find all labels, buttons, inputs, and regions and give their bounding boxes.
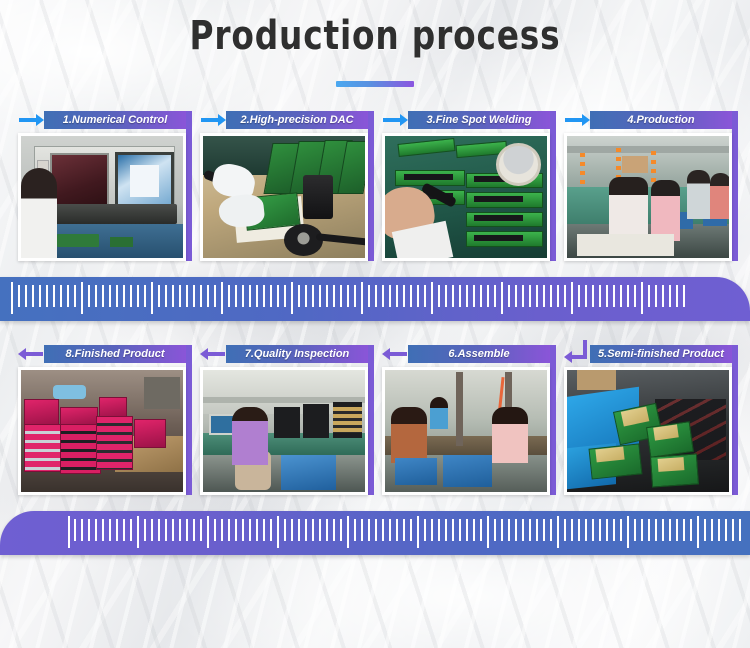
- ruler-tick: [564, 519, 566, 541]
- step-2-head: 2.High-precision DAC: [200, 111, 368, 129]
- ruler-tick: [550, 285, 552, 307]
- ruler-tick: [298, 285, 300, 307]
- ruler-tick: [130, 519, 132, 541]
- step-3-label: 3.Fine Spot Welding: [408, 111, 550, 129]
- ruler-tick: [235, 285, 237, 307]
- ruler-tick: [445, 285, 447, 307]
- ruler-tick: [634, 519, 636, 541]
- ruler-tick: [410, 519, 412, 541]
- ruler-tick: [634, 285, 636, 307]
- ruler-tick: [480, 519, 482, 541]
- ruler-tick: [375, 519, 377, 541]
- ruler-tick: [60, 285, 62, 307]
- ruler-tick: [186, 285, 188, 307]
- ruler-tick: [305, 519, 307, 541]
- ruler-tick: [438, 519, 440, 541]
- ruler-tick: [368, 519, 370, 541]
- ruler-tick: [165, 519, 167, 541]
- ruler-tick: [459, 519, 461, 541]
- ruler-tick: [144, 519, 146, 541]
- step-2-label: 2.High-precision DAC: [226, 111, 368, 129]
- step-card-1[interactable]: 1.Numerical Control: [18, 111, 186, 261]
- ruler-tick: [690, 519, 692, 541]
- page-content: Production process 1.Numerical Control: [0, 0, 750, 557]
- ruler-tick: [536, 285, 538, 307]
- ruler-tick: [242, 519, 244, 541]
- ruler-tick: [557, 516, 559, 548]
- assemble-photo: [385, 370, 547, 492]
- ruler-tick: [277, 285, 279, 307]
- ruler-tick: [242, 285, 244, 307]
- ruler-tick: [249, 285, 251, 307]
- ruler-tick: [403, 285, 405, 307]
- ruler-tick: [333, 519, 335, 541]
- step-4-head: 4.Production: [564, 111, 732, 129]
- ruler-tick: [123, 285, 125, 307]
- ruler-tick: [431, 519, 433, 541]
- ruler-tick: [284, 285, 286, 307]
- ruler-tick: [207, 285, 209, 307]
- ruler-tick: [396, 285, 398, 307]
- step-8-label: 8.Finished Product: [44, 345, 186, 363]
- ruler-tick: [68, 516, 70, 548]
- ruler-tick: [452, 519, 454, 541]
- ruler-tick: [221, 519, 223, 541]
- ruler-tick: [95, 285, 97, 307]
- ruler-tick: [704, 519, 706, 541]
- ruler-tick: [354, 285, 356, 307]
- ruler-tick: [270, 519, 272, 541]
- ruler-tick: [375, 285, 377, 307]
- ruler-tick: [557, 285, 559, 307]
- ruler-tick: [620, 519, 622, 541]
- production-photo: [567, 136, 729, 258]
- ruler-tick: [683, 519, 685, 541]
- ruler-tick: [200, 519, 202, 541]
- ruler-tick: [578, 519, 580, 541]
- ruler-tick: [235, 519, 237, 541]
- ruler-tick: [340, 519, 342, 541]
- ruler-tick: [228, 285, 230, 307]
- ruler-tick: [151, 282, 153, 314]
- ruler-tick: [382, 519, 384, 541]
- ruler-tick: [431, 282, 433, 314]
- ruler-tick: [494, 285, 496, 307]
- ruler-tick: [592, 519, 594, 541]
- arrow-right-icon: [564, 114, 590, 126]
- step-5-head: 5.Semi-finished Product: [564, 345, 732, 363]
- ruler-tick: [333, 285, 335, 307]
- bottom-row: 8.Finished Product: [0, 345, 750, 495]
- ruler-tick: [312, 519, 314, 541]
- step-1-photo-frame: [18, 133, 186, 261]
- ruler-tick: [340, 285, 342, 307]
- ruler-tick: [466, 285, 468, 307]
- ruler-tick: [718, 519, 720, 541]
- arrow-right-icon: [382, 114, 408, 126]
- ruler-tick: [732, 519, 734, 541]
- arrow-elbow-down-left-icon: [564, 344, 590, 364]
- step-7-head: 7.Quality Inspection: [200, 345, 368, 363]
- step-7-label: 7.Quality Inspection: [226, 345, 368, 363]
- ruler-tick: [179, 519, 181, 541]
- ruler-tick: [25, 285, 27, 307]
- ruler-tick: [39, 285, 41, 307]
- top-row: 1.Numerical Control 2.High-precision DAC: [0, 111, 750, 261]
- ruler-tick: [494, 519, 496, 541]
- ruler-tick: [480, 285, 482, 307]
- ruler-tick: [305, 285, 307, 307]
- ruler-tick: [599, 285, 601, 307]
- ruler-tick: [81, 519, 83, 541]
- ruler-tick: [214, 519, 216, 541]
- ruler-tick: [445, 519, 447, 541]
- ruler-tick: [522, 519, 524, 541]
- ruler-tick: [179, 285, 181, 307]
- step-card-6[interactable]: 6.Assemble: [382, 345, 550, 495]
- arrow-left-icon: [200, 348, 226, 360]
- ruler-tick: [291, 519, 293, 541]
- step-3-head: 3.Fine Spot Welding: [382, 111, 550, 129]
- ruler-tick: [529, 285, 531, 307]
- ruler-tick: [508, 285, 510, 307]
- ruler-tick: [88, 285, 90, 307]
- ruler-tick: [676, 519, 678, 541]
- arrow-right-icon: [18, 114, 44, 126]
- page-header: Production process: [0, 0, 750, 87]
- ruler-tick: [109, 285, 111, 307]
- numerical-control-photo: [21, 136, 183, 258]
- ruler-tick: [298, 519, 300, 541]
- ruler-tick: [347, 516, 349, 548]
- ruler-tick: [592, 285, 594, 307]
- ruler-tick: [361, 519, 363, 541]
- ruler-tick: [641, 282, 643, 314]
- ruler-tick: [585, 519, 587, 541]
- ruler-tick: [662, 519, 664, 541]
- step-6-label: 6.Assemble: [408, 345, 550, 363]
- ruler-tick: [522, 285, 524, 307]
- ruler-tick: [536, 519, 538, 541]
- step-card-4[interactable]: 4.Production: [564, 111, 732, 261]
- ruler-tick: [74, 285, 76, 307]
- arrow-left-icon: [18, 348, 44, 360]
- ruler-tick: [249, 519, 251, 541]
- ruler-tick: [53, 285, 55, 307]
- ruler-top-wrap: [0, 277, 750, 323]
- ruler-tick: [564, 285, 566, 307]
- step-card-5[interactable]: 5.Semi-finished Product: [564, 345, 732, 495]
- ruler-tick: [277, 516, 279, 548]
- ruler-tick: [648, 285, 650, 307]
- ruler-tick: [655, 285, 657, 307]
- ruler-tick: [319, 285, 321, 307]
- ruler-tick: [81, 282, 83, 314]
- ruler-tick: [11, 282, 13, 314]
- ruler-tick: [347, 285, 349, 307]
- step-4-photo-frame: [564, 133, 732, 261]
- ruler-tick: [144, 285, 146, 307]
- ruler-tick: [263, 285, 265, 307]
- ruler-bottom-wrap: [0, 511, 750, 557]
- ruler-tick: [165, 285, 167, 307]
- ruler-tick: [620, 285, 622, 307]
- ruler-tick: [270, 285, 272, 307]
- ruler-tick: [137, 285, 139, 307]
- ruler-tick: [102, 285, 104, 307]
- ruler-tick: [200, 285, 202, 307]
- ruler-tick: [389, 285, 391, 307]
- ruler-tick: [550, 519, 552, 541]
- ruler-tick: [452, 285, 454, 307]
- step-card-7[interactable]: 7.Quality Inspection: [200, 345, 368, 495]
- page-title: Production process: [68, 16, 683, 56]
- step-5-photo-frame: [564, 367, 732, 495]
- ruler-tick: [256, 285, 258, 307]
- ruler-tick: [319, 519, 321, 541]
- ruler-tick: [32, 285, 34, 307]
- step-6-head: 6.Assemble: [382, 345, 550, 363]
- ruler-tick: [515, 285, 517, 307]
- ruler-tick: [326, 519, 328, 541]
- ruler-tick: [669, 285, 671, 307]
- ruler-tick: [648, 519, 650, 541]
- ruler-tick: [207, 516, 209, 548]
- step-6-photo-frame: [382, 367, 550, 495]
- ruler-tick: [501, 282, 503, 314]
- ruler-tick: [95, 519, 97, 541]
- ruler-tick: [669, 519, 671, 541]
- ruler-bottom: [0, 511, 750, 555]
- ruler-tick: [529, 519, 531, 541]
- title-underline: [336, 81, 414, 87]
- ruler-tick: [46, 285, 48, 307]
- ruler-tick: [193, 285, 195, 307]
- ruler-tick: [312, 285, 314, 307]
- ruler-tick: [606, 285, 608, 307]
- ruler-top-ticks: [0, 277, 750, 321]
- finished-product-photo: [21, 370, 183, 492]
- ruler-tick: [396, 519, 398, 541]
- ruler-tick: [123, 519, 125, 541]
- ruler-tick: [613, 519, 615, 541]
- ruler-tick: [487, 285, 489, 307]
- ruler-tick: [172, 519, 174, 541]
- ruler-tick: [508, 519, 510, 541]
- ruler-tick: [158, 285, 160, 307]
- step-8-photo-frame: [18, 367, 186, 495]
- ruler-tick: [74, 519, 76, 541]
- ruler-tick: [291, 282, 293, 314]
- ruler-tick: [501, 519, 503, 541]
- ruler-tick: [515, 519, 517, 541]
- arrow-left-icon: [382, 348, 408, 360]
- ruler-tick: [627, 516, 629, 548]
- semi-finished-product-photo: [567, 370, 729, 492]
- ruler-tick: [116, 285, 118, 307]
- ruler-tick: [571, 282, 573, 314]
- ruler-tick: [389, 519, 391, 541]
- fine-spot-welding-photo: [385, 136, 547, 258]
- ruler-tick: [627, 285, 629, 307]
- ruler-tick: [18, 285, 20, 307]
- ruler-tick: [606, 519, 608, 541]
- ruler-tick: [102, 519, 104, 541]
- ruler-tick: [438, 285, 440, 307]
- step-8-head: 8.Finished Product: [18, 345, 186, 363]
- ruler-tick: [424, 519, 426, 541]
- ruler-tick: [599, 519, 601, 541]
- ruler-tick: [571, 519, 573, 541]
- step-3-photo-frame: [382, 133, 550, 261]
- quality-inspection-photo: [203, 370, 365, 492]
- ruler-tick: [109, 519, 111, 541]
- step-5-label: 5.Semi-finished Product: [590, 345, 732, 363]
- ruler-tick: [284, 519, 286, 541]
- ruler-tick: [473, 519, 475, 541]
- ruler-tick: [137, 516, 139, 548]
- ruler-tick: [424, 285, 426, 307]
- ruler-tick: [151, 519, 153, 541]
- ruler-tick: [543, 285, 545, 307]
- high-precision-dac-photo: [203, 136, 365, 258]
- ruler-tick: [585, 285, 587, 307]
- step-1-head: 1.Numerical Control: [18, 111, 186, 129]
- ruler-tick: [459, 285, 461, 307]
- ruler-tick: [697, 516, 699, 548]
- ruler-tick: [683, 285, 685, 307]
- step-card-2[interactable]: 2.High-precision DAC: [200, 111, 368, 261]
- ruler-tick: [326, 285, 328, 307]
- ruler-tick: [186, 519, 188, 541]
- ruler-tick: [739, 519, 741, 541]
- step-4-label: 4.Production: [590, 111, 732, 129]
- ruler-tick: [641, 519, 643, 541]
- ruler-tick: [67, 285, 69, 307]
- ruler-tick: [172, 285, 174, 307]
- step-card-8[interactable]: 8.Finished Product: [18, 345, 186, 495]
- ruler-tick: [368, 285, 370, 307]
- ruler-tick: [410, 285, 412, 307]
- ruler-tick: [676, 285, 678, 307]
- ruler-tick: [158, 519, 160, 541]
- ruler-tick: [578, 285, 580, 307]
- ruler-tick: [613, 285, 615, 307]
- step-7-photo-frame: [200, 367, 368, 495]
- step-2-photo-frame: [200, 133, 368, 261]
- step-1-label: 1.Numerical Control: [44, 111, 186, 129]
- ruler-tick: [116, 519, 118, 541]
- arrow-right-icon: [200, 114, 226, 126]
- ruler-tick: [466, 519, 468, 541]
- ruler-tick: [655, 519, 657, 541]
- ruler-tick: [214, 285, 216, 307]
- ruler-tick: [487, 516, 489, 548]
- ruler-tick: [725, 519, 727, 541]
- ruler-tick: [263, 519, 265, 541]
- ruler-tick: [130, 285, 132, 307]
- step-card-3[interactable]: 3.Fine Spot Welding: [382, 111, 550, 261]
- ruler-tick: [354, 519, 356, 541]
- ruler-tick: [711, 519, 713, 541]
- ruler-tick: [228, 519, 230, 541]
- ruler-tick: [256, 519, 258, 541]
- ruler-tick: [543, 519, 545, 541]
- ruler-tick: [662, 285, 664, 307]
- ruler-tick: [417, 285, 419, 307]
- ruler-tick: [361, 282, 363, 314]
- ruler-tick: [88, 519, 90, 541]
- ruler-tick: [473, 285, 475, 307]
- ruler-top: [0, 277, 750, 321]
- ruler-tick: [382, 285, 384, 307]
- ruler-bottom-ticks: [0, 511, 750, 555]
- ruler-tick: [221, 282, 223, 314]
- ruler-tick: [403, 519, 405, 541]
- ruler-tick: [193, 519, 195, 541]
- ruler-tick: [417, 516, 419, 548]
